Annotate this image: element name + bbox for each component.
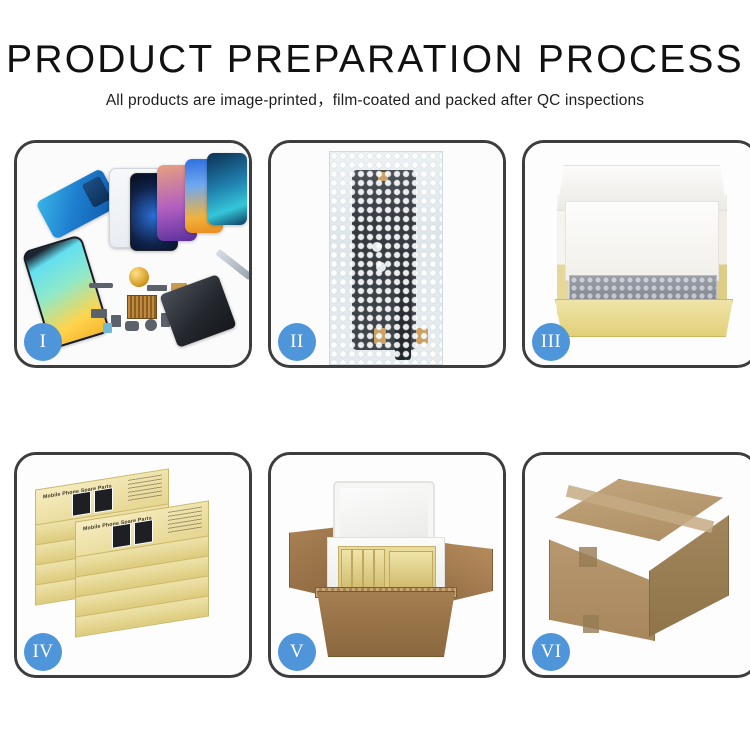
process-step-card-5[interactable]: V (268, 452, 506, 678)
yellow-box-group-right (389, 551, 433, 591)
phone-teal-icon (207, 153, 247, 225)
flex-cable-part-icon (91, 309, 107, 318)
carton-front-face-icon (549, 523, 655, 641)
step-badge-4: IV (24, 633, 62, 671)
tweezers-icon (215, 249, 249, 280)
bubble-texture-overlay (330, 152, 442, 364)
box-inner-white-panel-icon (565, 201, 719, 281)
step-badge-1: I (24, 323, 62, 361)
process-step-grid: I II (14, 140, 737, 678)
antenna-part-icon (147, 285, 167, 291)
box-art-screen-1a (72, 491, 91, 517)
process-step-card-3[interactable]: III (522, 140, 750, 368)
vibration-motor-icon (129, 267, 149, 287)
step-badge-3: III (532, 323, 570, 361)
carton-tab-upper-icon (579, 547, 597, 567)
chip-grid-icon (127, 295, 157, 319)
process-step-card-4[interactable]: Mobile Phone Spare Parts Mobile Phone Sp… (14, 452, 252, 678)
page-title: PRODUCT PREPARATION PROCESS (0, 38, 750, 82)
step-badge-5: V (278, 633, 316, 671)
bubble-wrap-bag-icon (329, 151, 443, 365)
box-art-screen-2b (134, 519, 153, 545)
product-preparation-infographic: PRODUCT PREPARATION PROCESS All products… (0, 0, 750, 750)
sensor-part-icon (103, 323, 112, 333)
page-subtitle: All products are image-printed，film-coat… (0, 91, 750, 111)
camera-part-icon (145, 319, 157, 331)
step-badge-6: VI (532, 633, 570, 671)
phone-blue-back-cover-icon (35, 168, 120, 240)
box-art-screen-1b (94, 487, 113, 513)
box-spec-list-2 (168, 506, 202, 535)
carton-tab-lower-icon (583, 615, 599, 633)
box-art-screen-2a (112, 523, 131, 549)
process-step-card-6[interactable]: VI (522, 452, 750, 678)
process-step-card-2[interactable]: II (268, 140, 506, 368)
connector-part-icon (89, 283, 113, 288)
carton-body-icon (317, 591, 455, 657)
box-front-panel-icon (555, 299, 733, 337)
box-spec-list-1 (128, 474, 162, 503)
process-step-card-1[interactable]: I (14, 140, 252, 368)
header: PRODUCT PREPARATION PROCESS All products… (0, 38, 750, 111)
small-part-icon (111, 315, 121, 327)
speaker-part-icon (125, 321, 139, 331)
step-badge-2: II (278, 323, 316, 361)
